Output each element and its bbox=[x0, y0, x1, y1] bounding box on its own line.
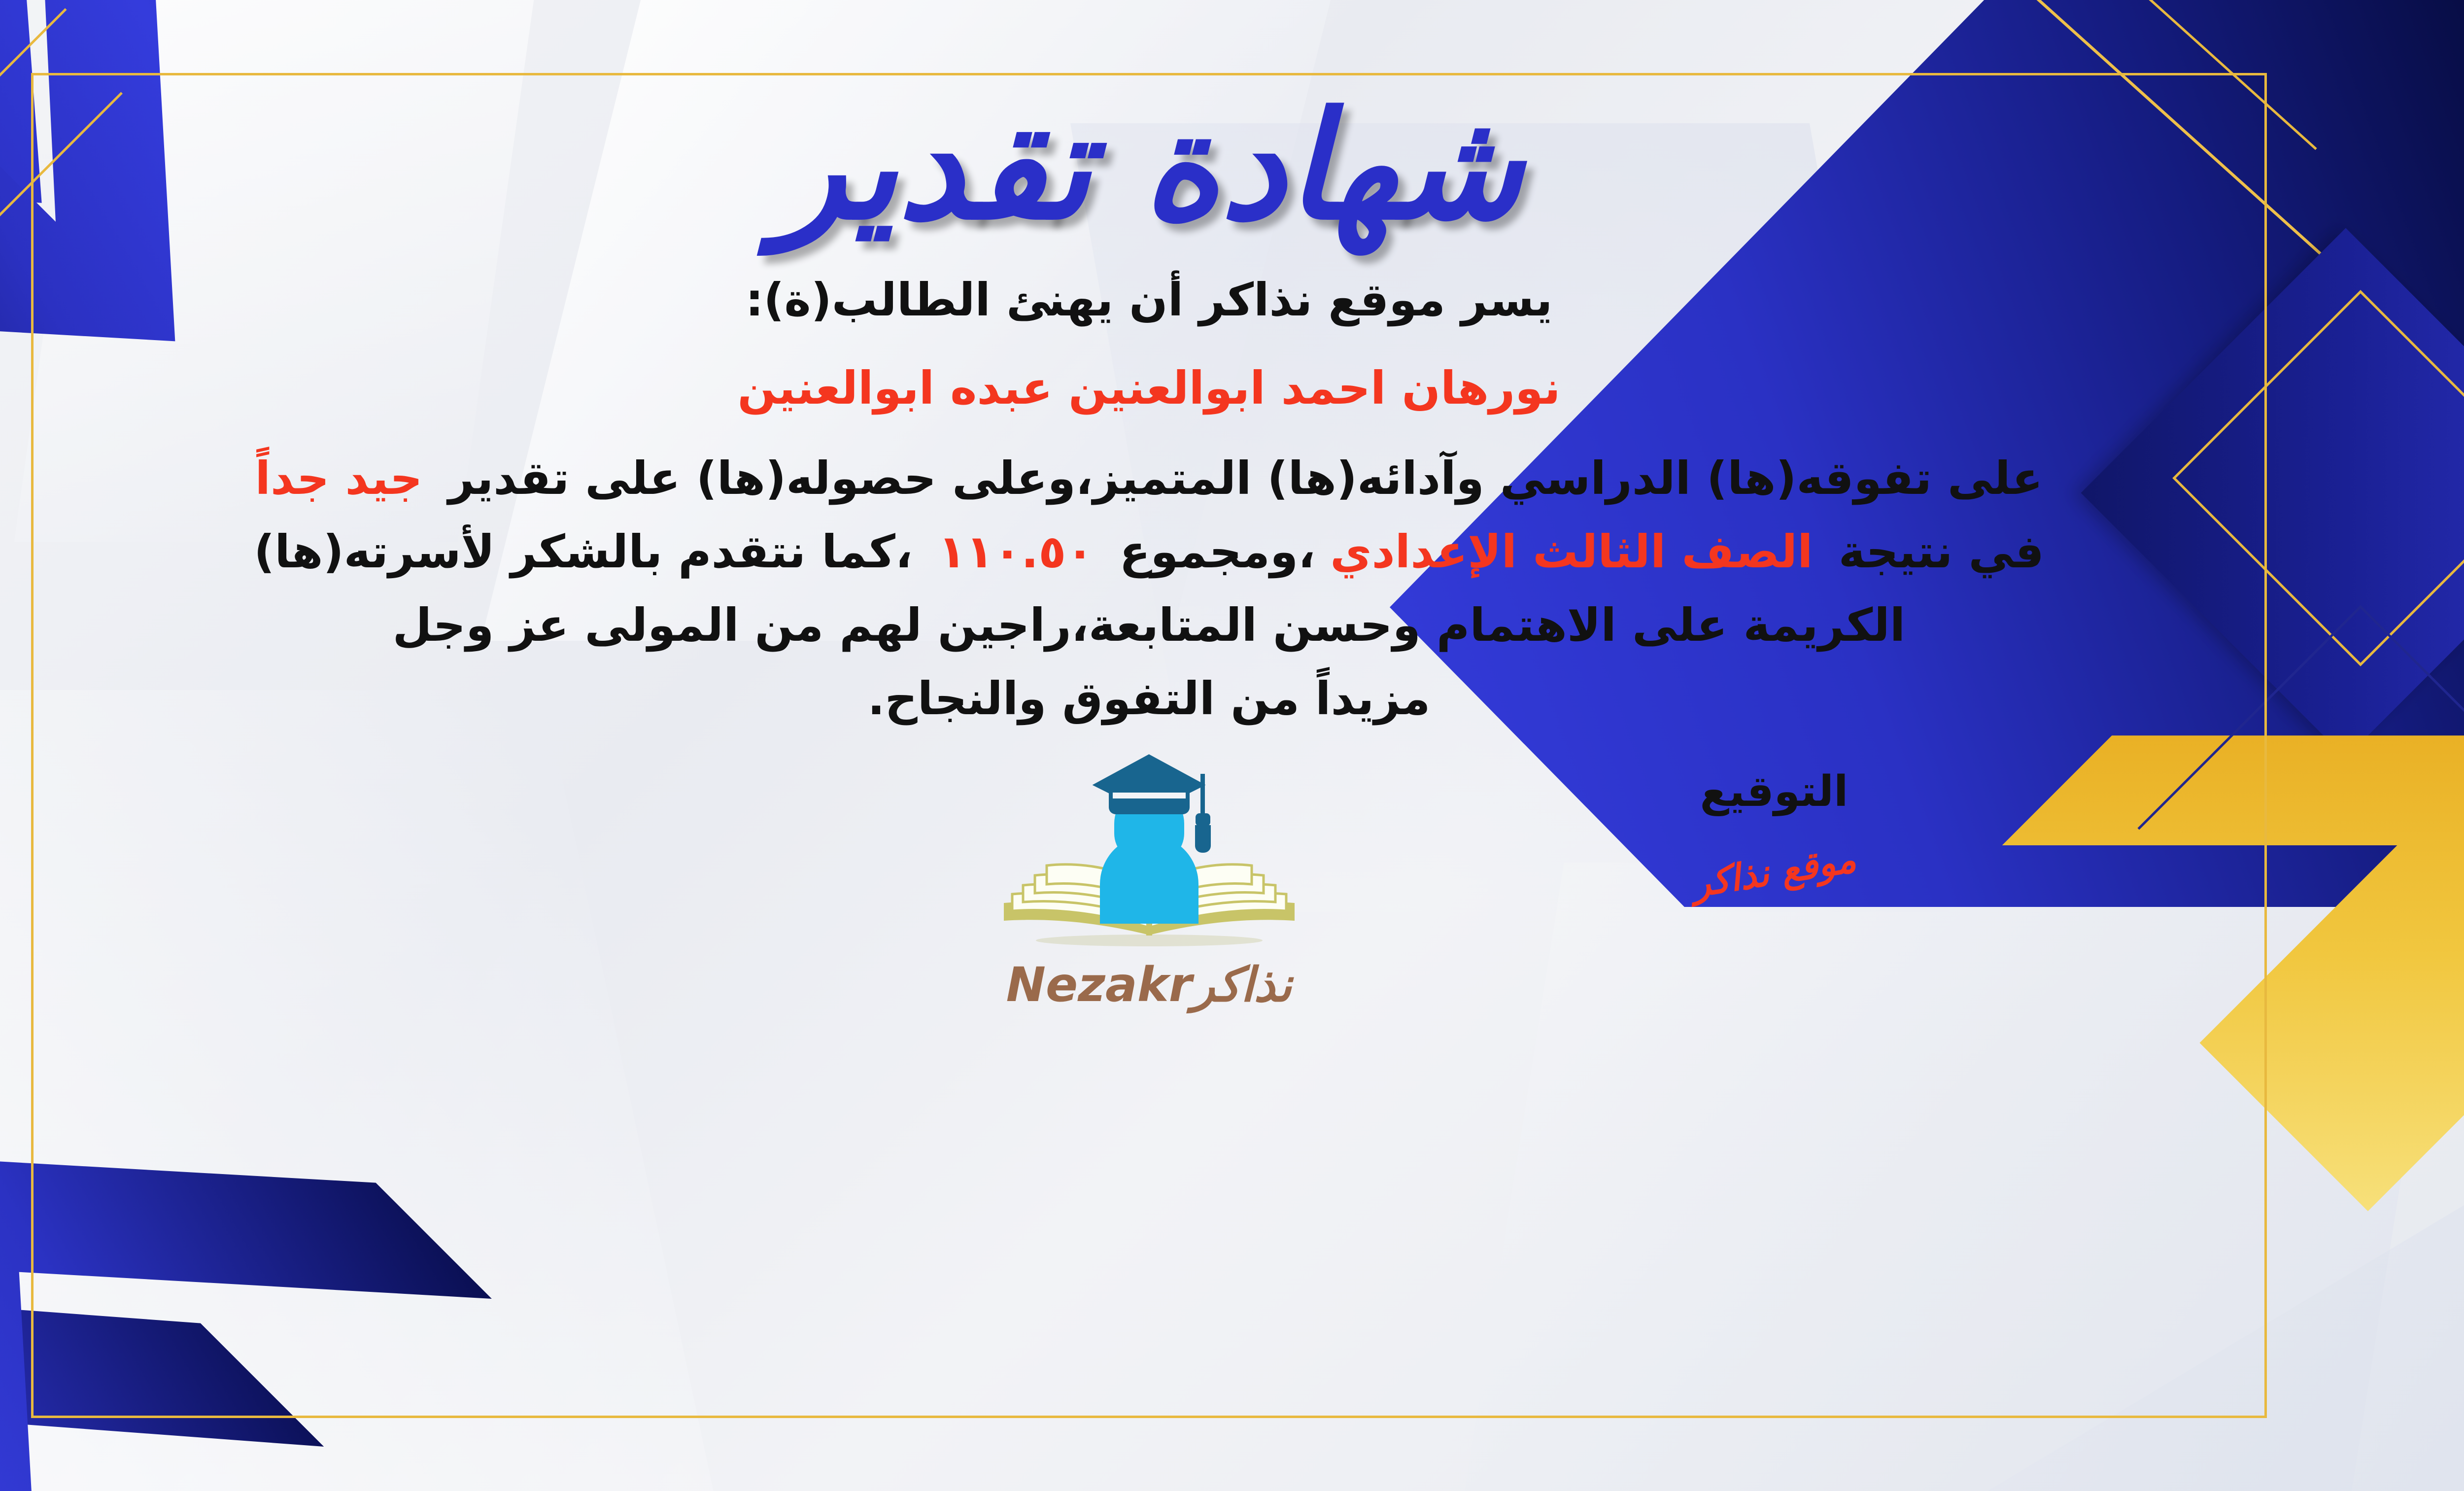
praise-line: على تفوقه(ها) الدراسي وآدائه(ها) المتميز… bbox=[31, 442, 2267, 515]
logo-mark bbox=[977, 747, 1322, 954]
logo-latin-name: Nezakr bbox=[1006, 957, 1192, 1012]
site-logo: نذاكرNezakr bbox=[962, 747, 1336, 1012]
signature-label: التوقيع bbox=[1646, 767, 1902, 816]
closing-line: مزيداً من التفوق والنجاح. bbox=[31, 662, 2267, 735]
thanks-text: ،كما نتقدم بالشكر لأسرته(ها) bbox=[254, 525, 913, 578]
certificate-footer: التوقيع موقع نذاكر bbox=[31, 767, 2267, 1063]
graduation-tassel-knot bbox=[1196, 813, 1210, 826]
logo-wordmark: نذاكرNezakr bbox=[962, 957, 1336, 1012]
total-label: ،ومجموع bbox=[1120, 525, 1316, 578]
graduation-cap-stripe bbox=[1113, 793, 1186, 798]
grade-value: جيد جداً bbox=[255, 452, 422, 505]
certificate-title: شهادة تقدير bbox=[775, 87, 1523, 246]
graduation-tassel-icon bbox=[1200, 774, 1205, 816]
graduation-tassel-fringe bbox=[1195, 825, 1211, 853]
certificate-body: يسر موقع نذاكر أن يهنئ الطالب(ة): نورهان… bbox=[31, 263, 2267, 735]
certificate-page: شهادة تقدير يسر موقع نذاكر أن يهنئ الطال… bbox=[0, 0, 2464, 1491]
signature-mark: موقع نذاكر bbox=[1644, 831, 1904, 913]
class-value: الصف الثالث الإعدادي bbox=[1330, 525, 1813, 578]
result-line: في نتيجةالصف الثالث الإعدادي،ومجموع١١٠.٥… bbox=[31, 515, 2267, 589]
praise-text: على تفوقه(ها) الدراسي وآدائه(ها) المتميز… bbox=[448, 452, 2043, 505]
family-line: الكريمة على الاهتمام وحسن المتابعة،راجين… bbox=[31, 589, 2267, 662]
result-label: في نتيجة bbox=[1839, 525, 2044, 578]
total-value: ١١٠.٥٠ bbox=[938, 525, 1094, 578]
certificate-content: شهادة تقدير يسر موقع نذاكر أن يهنئ الطال… bbox=[31, 73, 2267, 1418]
greeting-line: يسر موقع نذاكر أن يهنئ الطالب(ة): bbox=[31, 263, 2267, 337]
signature-block: التوقيع موقع نذاكر bbox=[1646, 767, 1902, 893]
logo-arabic-name: نذاكر bbox=[1192, 957, 1292, 1012]
student-name: نورهان احمد ابوالعنين عبده ابوالعنين bbox=[31, 351, 2267, 425]
